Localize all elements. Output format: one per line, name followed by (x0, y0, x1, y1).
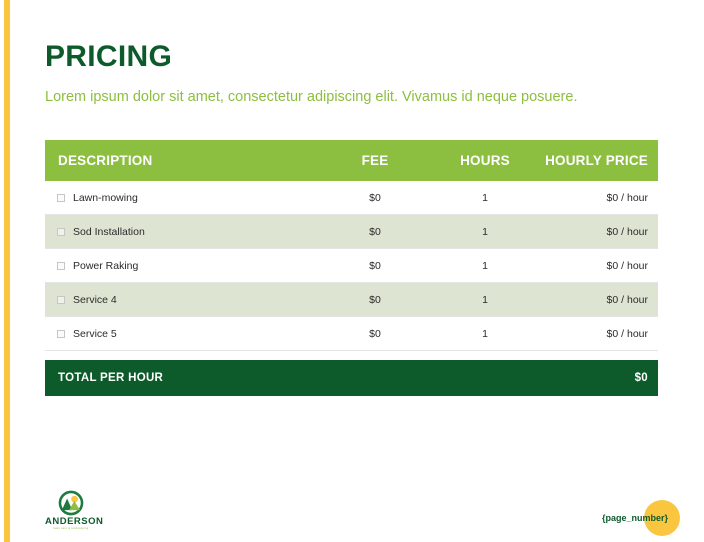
row-checkbox[interactable] (57, 194, 65, 202)
row-description-label: Service 4 (73, 294, 117, 306)
logo-wordmark: ANDERSON (45, 517, 97, 527)
row-hourly-price-cell: $0 / hour (540, 192, 658, 204)
table-row[interactable]: Sod Installation $0 1 $0 / hour (45, 215, 658, 249)
row-description-label: Service 5 (73, 328, 117, 340)
row-description-cell: Service 4 (45, 294, 320, 306)
page-number-text: {page_number} (602, 513, 668, 523)
row-checkbox[interactable] (57, 262, 65, 270)
row-checkbox[interactable] (57, 330, 65, 338)
row-description-cell: Service 5 (45, 328, 320, 340)
table-row[interactable]: Service 5 $0 1 $0 / hour (45, 317, 658, 351)
row-hourly-price-cell: $0 / hour (540, 294, 658, 306)
row-hours-cell: 1 (430, 294, 540, 306)
total-label: TOTAL PER HOUR (45, 372, 320, 384)
anderson-emblem-icon (58, 490, 84, 516)
table-row[interactable]: Lawn-mowing $0 1 $0 / hour (45, 181, 658, 215)
pricing-table: DESCRIPTION FEE HOURS HOURLY PRICE Lawn-… (45, 140, 658, 396)
company-logo: ANDERSON lawn care & landscaping (45, 490, 97, 531)
row-hourly-price-cell: $0 / hour (540, 260, 658, 272)
table-header-row: DESCRIPTION FEE HOURS HOURLY PRICE (45, 140, 658, 181)
row-checkbox[interactable] (57, 228, 65, 236)
page-title: PRICING (45, 42, 172, 72)
row-description-label: Lawn-mowing (73, 192, 138, 204)
row-hourly-price-cell: $0 / hour (540, 328, 658, 340)
pricing-slide: PRICING Lorem ipsum dolor sit amet, cons… (0, 0, 704, 542)
logo-tagline: lawn care & landscaping (45, 528, 97, 531)
row-description-cell: Power Raking (45, 260, 320, 272)
page-number-badge: {page_number} (600, 500, 690, 538)
table-row[interactable]: Power Raking $0 1 $0 / hour (45, 249, 658, 283)
row-description-cell: Sod Installation (45, 226, 320, 238)
row-checkbox[interactable] (57, 296, 65, 304)
column-header-fee: FEE (320, 153, 430, 168)
row-fee-cell: $0 (320, 328, 430, 340)
row-fee-cell: $0 (320, 294, 430, 306)
row-description-label: Sod Installation (73, 226, 145, 238)
row-description-cell: Lawn-mowing (45, 192, 320, 204)
column-header-description: DESCRIPTION (45, 153, 320, 168)
row-hours-cell: 1 (430, 226, 540, 238)
column-header-hours: HOURS (430, 153, 540, 168)
table-row[interactable]: Service 4 $0 1 $0 / hour (45, 283, 658, 317)
row-fee-cell: $0 (320, 260, 430, 272)
left-accent-bar (4, 0, 10, 542)
row-hours-cell: 1 (430, 328, 540, 340)
row-fee-cell: $0 (320, 226, 430, 238)
row-hours-cell: 1 (430, 260, 540, 272)
total-value: $0 (540, 372, 658, 384)
table-total-row: TOTAL PER HOUR $0 (45, 360, 658, 396)
row-fee-cell: $0 (320, 192, 430, 204)
page-subtitle: Lorem ipsum dolor sit amet, consectetur … (45, 89, 577, 106)
column-header-hourly-price: HOURLY PRICE (540, 153, 658, 168)
row-hourly-price-cell: $0 / hour (540, 226, 658, 238)
row-description-label: Power Raking (73, 260, 138, 272)
row-hours-cell: 1 (430, 192, 540, 204)
